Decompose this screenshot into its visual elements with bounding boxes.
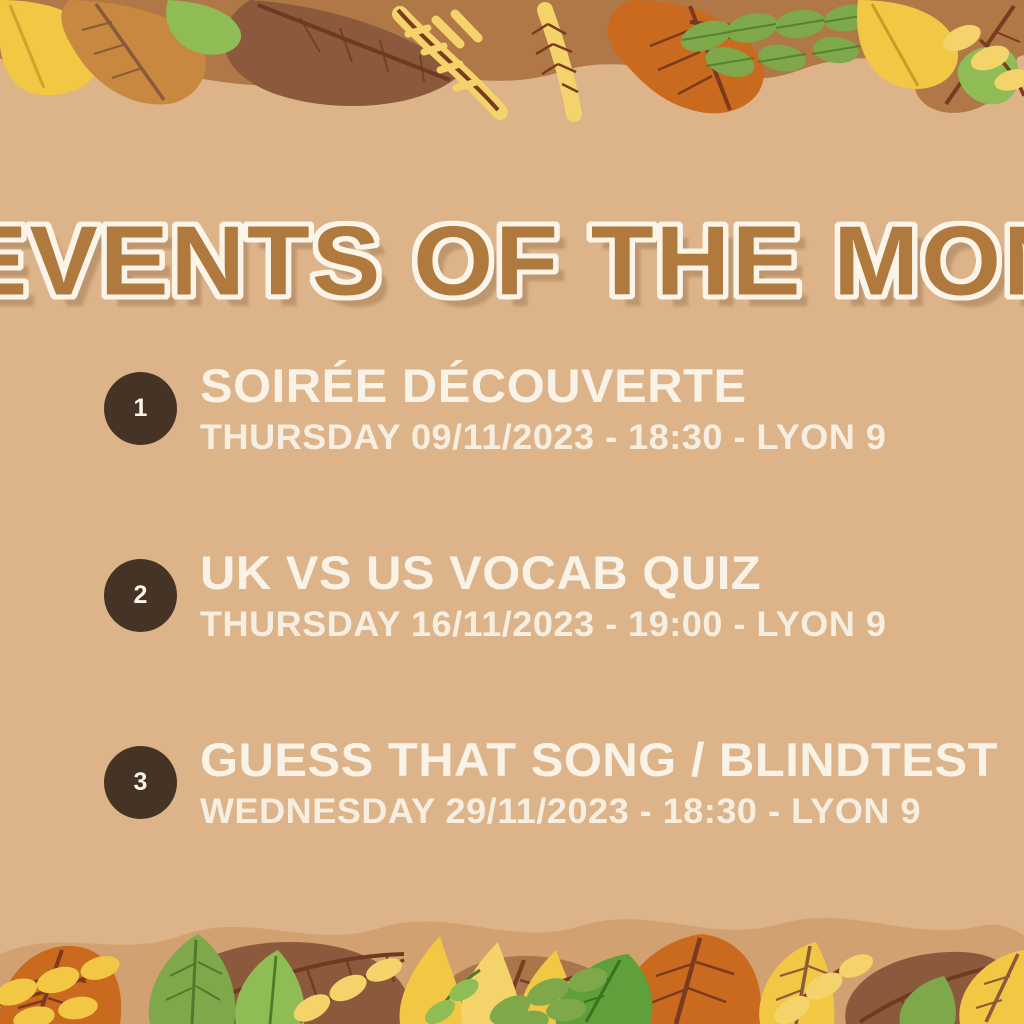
event-detail: WEDNESDAY 29/11/2023 - 18:30 - LYON 9 — [200, 793, 990, 830]
autumn-leaves-bottom-decoration — [0, 884, 1024, 1024]
events-list: 1 SOIRÉE DÉCOUVERTE THURSDAY 09/11/2023 … — [104, 338, 934, 852]
list-item[interactable]: 1 SOIRÉE DÉCOUVERTE THURSDAY 09/11/2023 … — [104, 338, 934, 478]
event-title: SOIRÉE DÉCOUVERTE — [200, 361, 963, 411]
event-number-badge: 1 — [104, 372, 177, 445]
list-item[interactable]: 3 GUESS THAT SONG / BLINDTEST WEDNESDAY … — [104, 712, 934, 852]
event-title: UK VS US VOCAB QUIZ — [200, 548, 963, 598]
event-text-block: GUESS THAT SONG / BLINDTEST WEDNESDAY 29… — [200, 735, 967, 830]
list-item[interactable]: 2 UK VS US VOCAB QUIZ THURSDAY 16/11/202… — [104, 525, 934, 665]
poster-canvas: EVENTS OF THE MONTH 1 SOIRÉE DÉCOUVERTE … — [0, 0, 1024, 1024]
event-text-block: SOIRÉE DÉCOUVERTE THURSDAY 09/11/2023 - … — [200, 361, 934, 456]
event-text-block: UK VS US VOCAB QUIZ THURSDAY 16/11/2023 … — [200, 548, 934, 643]
page-title: EVENTS OF THE MONTH — [0, 213, 1024, 311]
event-detail: THURSDAY 16/11/2023 - 19:00 - LYON 9 — [200, 606, 956, 643]
event-number-badge: 2 — [104, 559, 177, 632]
autumn-leaves-top-decoration — [0, 0, 1024, 125]
event-detail: THURSDAY 09/11/2023 - 18:30 - LYON 9 — [200, 419, 956, 456]
event-number-badge: 3 — [104, 746, 177, 819]
event-title: GUESS THAT SONG / BLINDTEST — [200, 735, 998, 785]
